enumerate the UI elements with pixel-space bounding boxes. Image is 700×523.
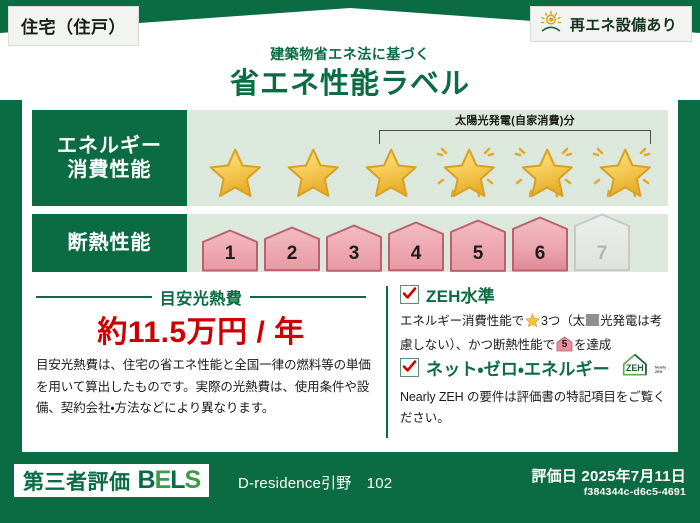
inline-house-number: 5 — [556, 337, 573, 354]
vertical-divider — [386, 286, 388, 438]
energy-performance-field: 太陽光発電(自家消費)分 — [187, 110, 668, 206]
energy-star — [355, 140, 433, 202]
zeh-net-text: Nearly ZEH の要件は評価書の特記項目をご覧ください。 — [400, 387, 672, 429]
inline-star-icon — [525, 313, 540, 335]
zeh-standard-block: ZEH水準 エネルギー消費性能で3つ（太光発電は考慮しない）、かつ断熱性能で5を… — [400, 282, 672, 359]
energy-performance-label: エネルギー 消費性能 — [32, 110, 187, 206]
insulation-level-7: 7 — [571, 213, 633, 272]
insulation-performance-label: 断熱性能 — [32, 214, 187, 272]
zeh-net-zero-block: ネット・ゼロ・エネルギー ZEH Nearly ZEH Nearly ZEH の… — [400, 352, 672, 429]
insulation-performance-field: 1 2 3 — [187, 214, 668, 272]
zeh-standard-title: ZEH水準 — [426, 282, 495, 307]
label-title: 省エネ性能ラベル — [0, 60, 700, 102]
evaluation-date: 評価日 2025年7月11日 — [531, 465, 686, 486]
zeh-standard-checkbox[interactable] — [400, 285, 419, 304]
insulation-level-3: 3 — [323, 224, 385, 272]
solar-bracket-caption: 太陽光発電(自家消費)分 — [379, 112, 651, 128]
bels-energy-performance-label: 建築物省エネ法に基づく 省エネ性能ラベル 住宅（住戸） 再エネ設備あり — [0, 0, 700, 523]
insulation-level-6: 6 — [509, 216, 571, 272]
cost-value: 約11.5万円 / 年 — [36, 307, 366, 351]
insulation-level-scale: 1 2 3 — [199, 214, 668, 272]
evaluation-id: f384344c-d6c5-4691 — [584, 486, 686, 498]
energy-star — [277, 140, 355, 202]
svg-text:ZEH: ZEH — [626, 363, 644, 373]
zeh-logo-icon: ZEH Nearly ZEH — [620, 352, 666, 383]
sun-icon — [539, 10, 563, 39]
bels-plate: 第三者評価 BELS — [14, 464, 209, 497]
cost-rule-left — [36, 296, 152, 298]
house-type-tag: 住宅（住戸） — [8, 6, 139, 46]
zeh-standard-heading: ZEH水準 — [400, 282, 672, 307]
energy-performance-row: エネルギー 消費性能 太陽光発電(自家消費)分 — [32, 110, 668, 206]
svg-text:ZEH: ZEH — [655, 370, 663, 374]
insulation-performance-row: 断熱性能 1 2 — [32, 214, 668, 272]
footer-bar: 第三者評価 BELS D-residence引野 102 評価日 2025年7月… — [0, 452, 700, 523]
insulation-level-2: 2 — [261, 226, 323, 272]
zeh-net-heading: ネット・ゼロ・エネルギー ZEH Nearly ZEH — [400, 352, 672, 383]
renewable-energy-badge: 再エネ設備あり — [530, 6, 692, 42]
property-name: D-residence引野 102 — [238, 472, 392, 493]
cost-title: 目安光熱費 — [160, 285, 243, 309]
energy-star — [589, 140, 667, 202]
insulation-level-5: 5 — [447, 219, 509, 272]
insulation-level-4: 4 — [385, 221, 447, 272]
zeh-net-title: ネット・ゼロ・エネルギー — [426, 355, 610, 380]
zeh-standard-text-part2: 3つ（太 — [541, 314, 585, 328]
cost-heading: 目安光熱費 — [36, 285, 366, 309]
zeh-net-checkbox[interactable] — [400, 358, 419, 377]
svg-text:Nearly: Nearly — [655, 366, 666, 370]
energy-star — [433, 140, 511, 202]
bels-jp-label: 第三者評価 — [23, 466, 131, 496]
energy-label-line2: 消費性能 — [68, 158, 152, 182]
redacted-mark — [586, 314, 599, 326]
energy-star-rating — [187, 140, 668, 202]
insulation-level-1: 1 — [199, 229, 261, 272]
zeh-standard-text-part4: を達成 — [574, 338, 611, 352]
inner-panel: エネルギー 消費性能 太陽光発電(自家消費)分 — [22, 100, 678, 452]
renewable-badge-label: 再エネ設備あり — [570, 14, 677, 35]
cost-note: 目安光熱費は、住宅の省エネ性能と全国一律の燃料等の単価を用いて算出したものです。… — [36, 355, 372, 420]
zeh-standard-text-part1: エネルギー消費性能で — [400, 314, 524, 328]
cost-rule-right — [250, 296, 366, 298]
energy-label-line1: エネルギー — [57, 134, 162, 158]
bels-en-logo: BELS — [138, 468, 201, 493]
insulation-label-text: 断熱性能 — [68, 231, 152, 255]
energy-star — [511, 140, 589, 202]
energy-star — [199, 140, 277, 202]
